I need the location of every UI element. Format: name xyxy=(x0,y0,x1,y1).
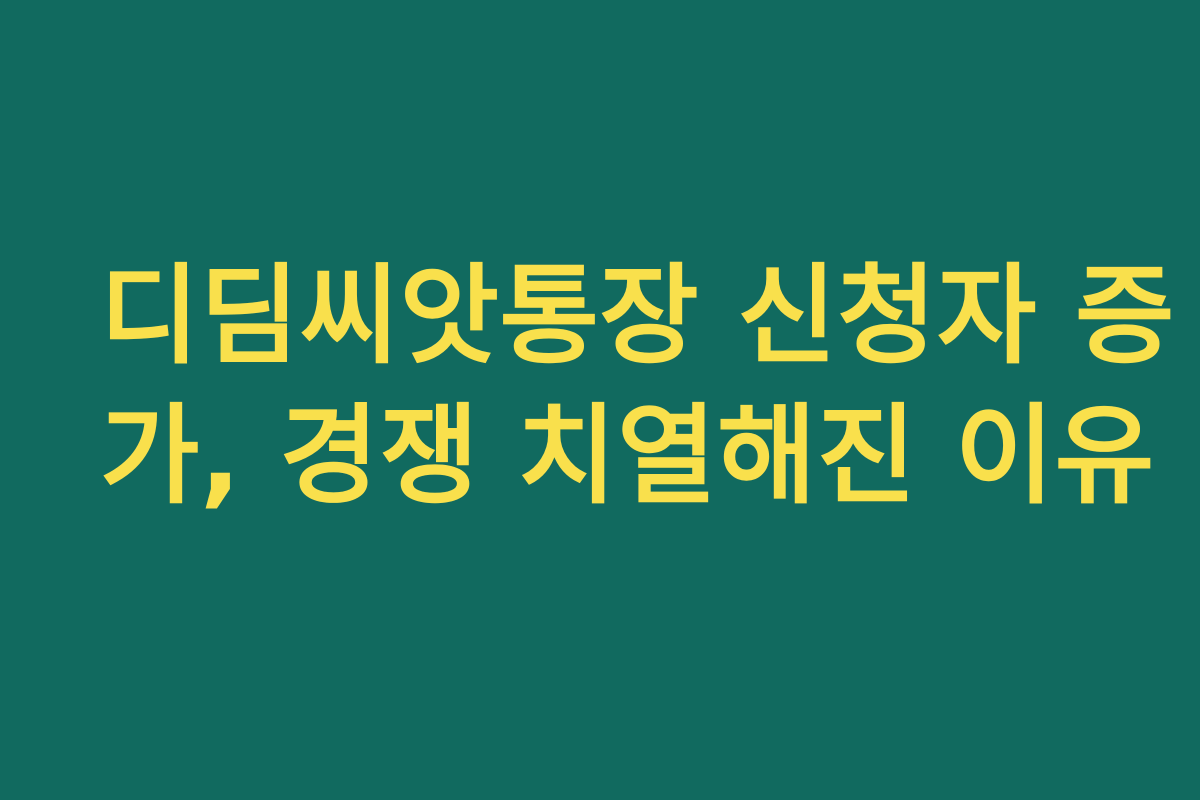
headline-line-2: 가, 경쟁 치열해진 이유 xyxy=(100,387,1100,527)
headline-card: 디딤씨앗통장 신청자 증 가, 경쟁 치열해진 이유 xyxy=(0,0,1200,800)
headline-line-1: 디딤씨앗통장 신청자 증 xyxy=(100,247,1100,387)
headline-text-block: 디딤씨앗통장 신청자 증 가, 경쟁 치열해진 이유 xyxy=(100,247,1100,527)
